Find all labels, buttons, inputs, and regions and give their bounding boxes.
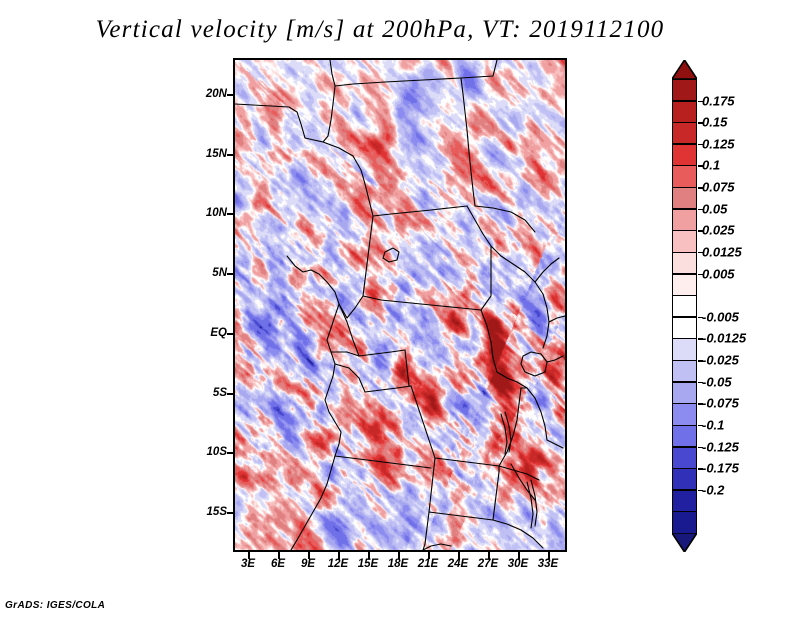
- latitude-tick-mark: [227, 452, 234, 454]
- colorbar-min-extend-arrow: [672, 533, 697, 552]
- colorbar-tick-label: 0.1: [702, 158, 720, 173]
- colorbar-tick-label: 0.175: [702, 93, 735, 108]
- colorbar-tick-label: 0.15: [702, 115, 727, 130]
- colorbar-tick-label: 0.005: [702, 266, 735, 281]
- latitude-tick-mark: [227, 393, 234, 395]
- latitude-tick-label: 20N: [206, 88, 227, 100]
- colorbar-tick-label: 0.075: [702, 180, 735, 195]
- colorbar-band: [672, 165, 697, 187]
- colorbar-band: [672, 511, 697, 533]
- colorbar-max-extend-arrow: [672, 60, 697, 79]
- colorbar-tick-label: -0.025: [702, 353, 739, 368]
- colorbar-tick-mark: [698, 209, 703, 211]
- colorbar-tick-mark: [698, 187, 703, 189]
- longitude-tick-label: 30E: [508, 558, 528, 570]
- longitude-tick-label: 12E: [328, 558, 348, 570]
- colorbar-tick-label: 0.0125: [702, 244, 742, 259]
- latitude-axis-labels: 20N15N10N5NEQ5S10S15S: [193, 58, 227, 552]
- colorbar-tick-mark: [698, 403, 703, 405]
- longitude-tick-mark: [278, 552, 280, 559]
- colorbar-tick-mark: [698, 490, 703, 492]
- latitude-tick-label: 10S: [207, 446, 227, 458]
- colorbar-tick-label: 0.125: [702, 136, 735, 151]
- colorbar-band: [672, 447, 697, 469]
- colorbar-tick-label: -0.1: [702, 417, 724, 432]
- colorbar-band: [672, 425, 697, 447]
- colorbar-tick-label: 0.025: [702, 223, 735, 238]
- longitude-tick-label: 33E: [538, 558, 558, 570]
- colorbar-band: [672, 252, 697, 274]
- longitude-tick-mark: [518, 552, 520, 559]
- colorbar-tick-mark: [698, 468, 703, 470]
- colorbar-tick-label: -0.005: [702, 309, 739, 324]
- grads-attribution: GrADS: IGES/COLA: [5, 600, 105, 611]
- latitude-tick-mark: [227, 512, 234, 514]
- latitude-tick-label: EQ: [210, 327, 227, 339]
- country-borders-overlay: [235, 60, 565, 550]
- colorbar-band: [672, 317, 697, 339]
- colorbar-band: [672, 468, 697, 490]
- colorbar-band: [672, 79, 697, 101]
- page-title: Vertical velocity [m/s] at 200hPa, VT: 2…: [0, 16, 760, 44]
- colorbar-tick-mark: [698, 274, 703, 276]
- colorbar-tick-mark: [698, 252, 703, 254]
- colorbar-band: [672, 122, 697, 144]
- colorbar-band: [672, 274, 697, 296]
- map-plot-area: [233, 58, 567, 552]
- colorbar-tick-label: -0.05: [702, 374, 732, 389]
- colorbar: 0.1750.150.1250.10.0750.050.0250.01250.0…: [672, 60, 698, 552]
- latitude-tick-label: 5S: [213, 387, 227, 399]
- colorbar-tick-mark: [698, 447, 703, 449]
- colorbar-tick-mark: [698, 101, 703, 103]
- longitude-tick-mark: [458, 552, 460, 559]
- latitude-tick-label: 15S: [207, 506, 227, 518]
- latitude-tick-mark: [227, 273, 234, 275]
- colorbar-band: [672, 338, 697, 360]
- longitude-tick-mark: [248, 552, 250, 559]
- latitude-tick-mark: [227, 333, 234, 335]
- colorbar-tick-label: 0.05: [702, 201, 727, 216]
- longitude-tick-mark: [548, 552, 550, 559]
- colorbar-band: [672, 382, 697, 404]
- colorbar-tick-mark: [698, 230, 703, 232]
- latitude-tick-label: 5N: [212, 267, 227, 279]
- longitude-tick-label: 24E: [448, 558, 468, 570]
- colorbar-band: [672, 101, 697, 123]
- longitude-tick-mark: [398, 552, 400, 559]
- colorbar-tick-mark: [698, 144, 703, 146]
- colorbar-tick-mark: [698, 425, 703, 427]
- colorbar-tick-label: -0.0125: [702, 331, 746, 346]
- colorbar-band: [672, 403, 697, 425]
- colorbar-band: [672, 230, 697, 252]
- longitude-tick-mark: [368, 552, 370, 559]
- colorbar-tick-mark: [698, 360, 703, 362]
- colorbar-tick-label: -0.175: [702, 461, 739, 476]
- colorbar-tick-mark: [698, 122, 703, 124]
- longitude-tick-label: 15E: [358, 558, 378, 570]
- colorbar-band: [672, 490, 697, 512]
- latitude-tick-mark: [227, 154, 234, 156]
- colorbar-tick-mark: [698, 382, 703, 384]
- longitude-tick-mark: [488, 552, 490, 559]
- longitude-tick-label: 27E: [478, 558, 498, 570]
- latitude-tick-mark: [227, 213, 234, 215]
- latitude-tick-label: 10N: [206, 207, 227, 219]
- longitude-tick-mark: [338, 552, 340, 559]
- colorbar-band: [672, 187, 697, 209]
- colorbar-tick-label: -0.125: [702, 439, 739, 454]
- longitude-axis-labels: 3E6E9E12E15E18E21E24E27E30E33E: [233, 554, 567, 578]
- colorbar-tick-mark: [698, 317, 703, 319]
- colorbar-tick-label: -0.2: [702, 482, 724, 497]
- longitude-tick-mark: [308, 552, 310, 559]
- colorbar-tick-mark: [698, 165, 703, 167]
- longitude-tick-label: 9E: [301, 558, 315, 570]
- colorbar-tick-label: -0.075: [702, 396, 739, 411]
- longitude-tick-label: 6E: [271, 558, 285, 570]
- colorbar-band: [672, 295, 697, 317]
- longitude-tick-label: 18E: [388, 558, 408, 570]
- latitude-tick-mark: [227, 94, 234, 96]
- longitude-tick-label: 21E: [418, 558, 438, 570]
- colorbar-band: [672, 144, 697, 166]
- latitude-tick-label: 15N: [206, 148, 227, 160]
- longitude-tick-label: 3E: [241, 558, 255, 570]
- colorbar-band: [672, 360, 697, 382]
- longitude-tick-mark: [428, 552, 430, 559]
- colorbar-band: [672, 209, 697, 231]
- colorbar-tick-mark: [698, 338, 703, 340]
